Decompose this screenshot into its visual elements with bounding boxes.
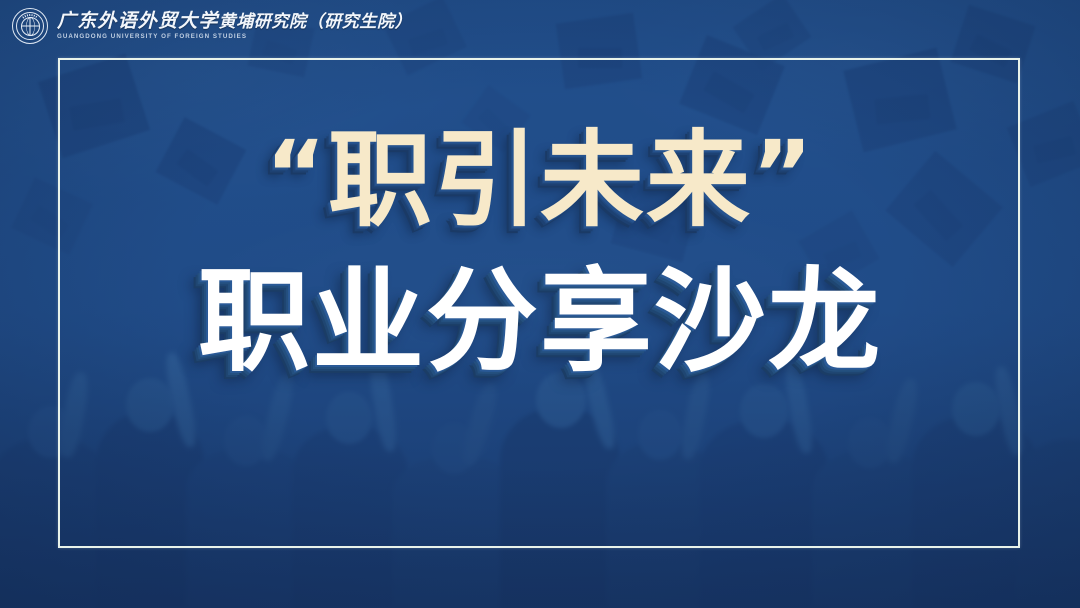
university-wordmark: 广东外语外贸大学黄埔研究院（研究生院） GUANGDONG UNIVERSITY… [57, 12, 412, 40]
title-line-2: 职业分享沙龙 [0, 266, 1080, 378]
globe-meridian-icon [26, 17, 35, 36]
title-line-1: “职引未来” [0, 128, 1080, 232]
poster-title-block: “职引未来” 职业分享沙龙 [0, 128, 1080, 378]
open-quote-mark: “ [266, 121, 328, 228]
close-quote-mark: ” [752, 121, 814, 228]
university-seal-globe-icon [12, 8, 48, 44]
poster-canvas: 广东外语外贸大学黄埔研究院（研究生院） GUANGDONG UNIVERSITY… [0, 0, 1080, 608]
institute-name-cn: 黄埔研究院（研究生院） [219, 12, 413, 31]
university-logo-lockup: 广东外语外贸大学黄埔研究院（研究生院） GUANGDONG UNIVERSITY… [12, 8, 412, 44]
university-name-en: GUANGDONG UNIVERSITY OF FOREIGN STUDIES [57, 34, 412, 40]
title-line-1-text: 职引未来 [328, 119, 752, 241]
university-name-cn-row: 广东外语外贸大学黄埔研究院（研究生院） [57, 12, 412, 31]
university-name-cn: 广东外语外贸大学 [57, 11, 219, 32]
